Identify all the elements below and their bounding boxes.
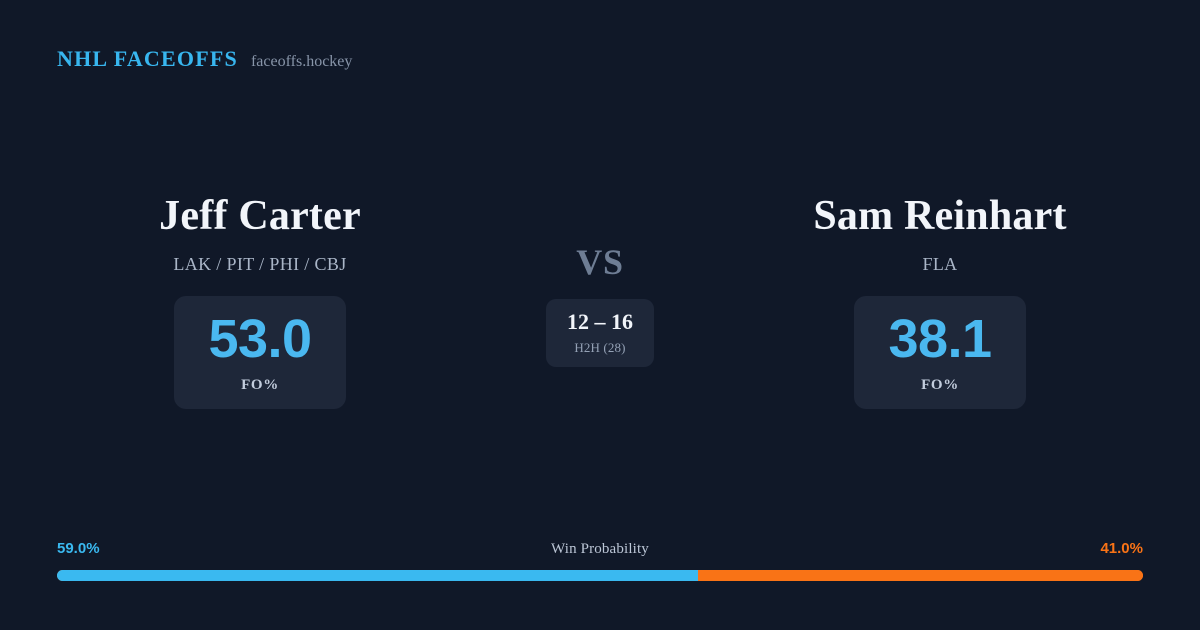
player-right-stat-card: 38.1 FO% (854, 296, 1026, 409)
win-probability-section: 59.0% Win Probability 41.0% (57, 540, 1143, 581)
matchup-row: Jeff Carter LAK / PIT / PHI / CBJ 53.0 F… (0, 195, 1200, 409)
win-probability-bar-left (57, 570, 698, 581)
player-left-name: Jeff Carter (159, 195, 361, 237)
versus-label: VS (576, 244, 623, 280)
player-right-name: Sam Reinhart (813, 195, 1066, 237)
win-probability-bar (57, 570, 1143, 581)
player-right: Sam Reinhart FLA 38.1 FO% (700, 195, 1180, 409)
head-to-head-score: 12 – 16 (567, 311, 633, 333)
player-left-teams: LAK / PIT / PHI / CBJ (173, 254, 346, 275)
player-right-teams: FLA (922, 254, 957, 275)
win-probability-bar-right (698, 570, 1143, 581)
player-left: Jeff Carter LAK / PIT / PHI / CBJ 53.0 F… (20, 195, 500, 409)
player-right-stat-value: 38.1 (889, 312, 992, 366)
versus-column: VS 12 – 16 H2H (28) (500, 195, 700, 367)
site-header: NHL FACEOFFS faceoffs.hockey (57, 46, 352, 72)
head-to-head-label: H2H (28) (574, 340, 625, 356)
win-probability-title: Win Probability (57, 541, 1143, 558)
win-probability-labels: 59.0% Win Probability 41.0% (57, 540, 1143, 562)
player-left-stat-value: 53.0 (209, 312, 312, 366)
player-left-stat-label: FO% (241, 377, 279, 394)
brand-domain: faceoffs.hockey (251, 53, 352, 71)
win-probability-right-value: 41.0% (1100, 540, 1143, 557)
brand-title: NHL FACEOFFS (57, 46, 238, 72)
player-left-stat-card: 53.0 FO% (174, 296, 346, 409)
player-right-stat-label: FO% (921, 377, 959, 394)
head-to-head-badge: 12 – 16 H2H (28) (546, 299, 654, 367)
